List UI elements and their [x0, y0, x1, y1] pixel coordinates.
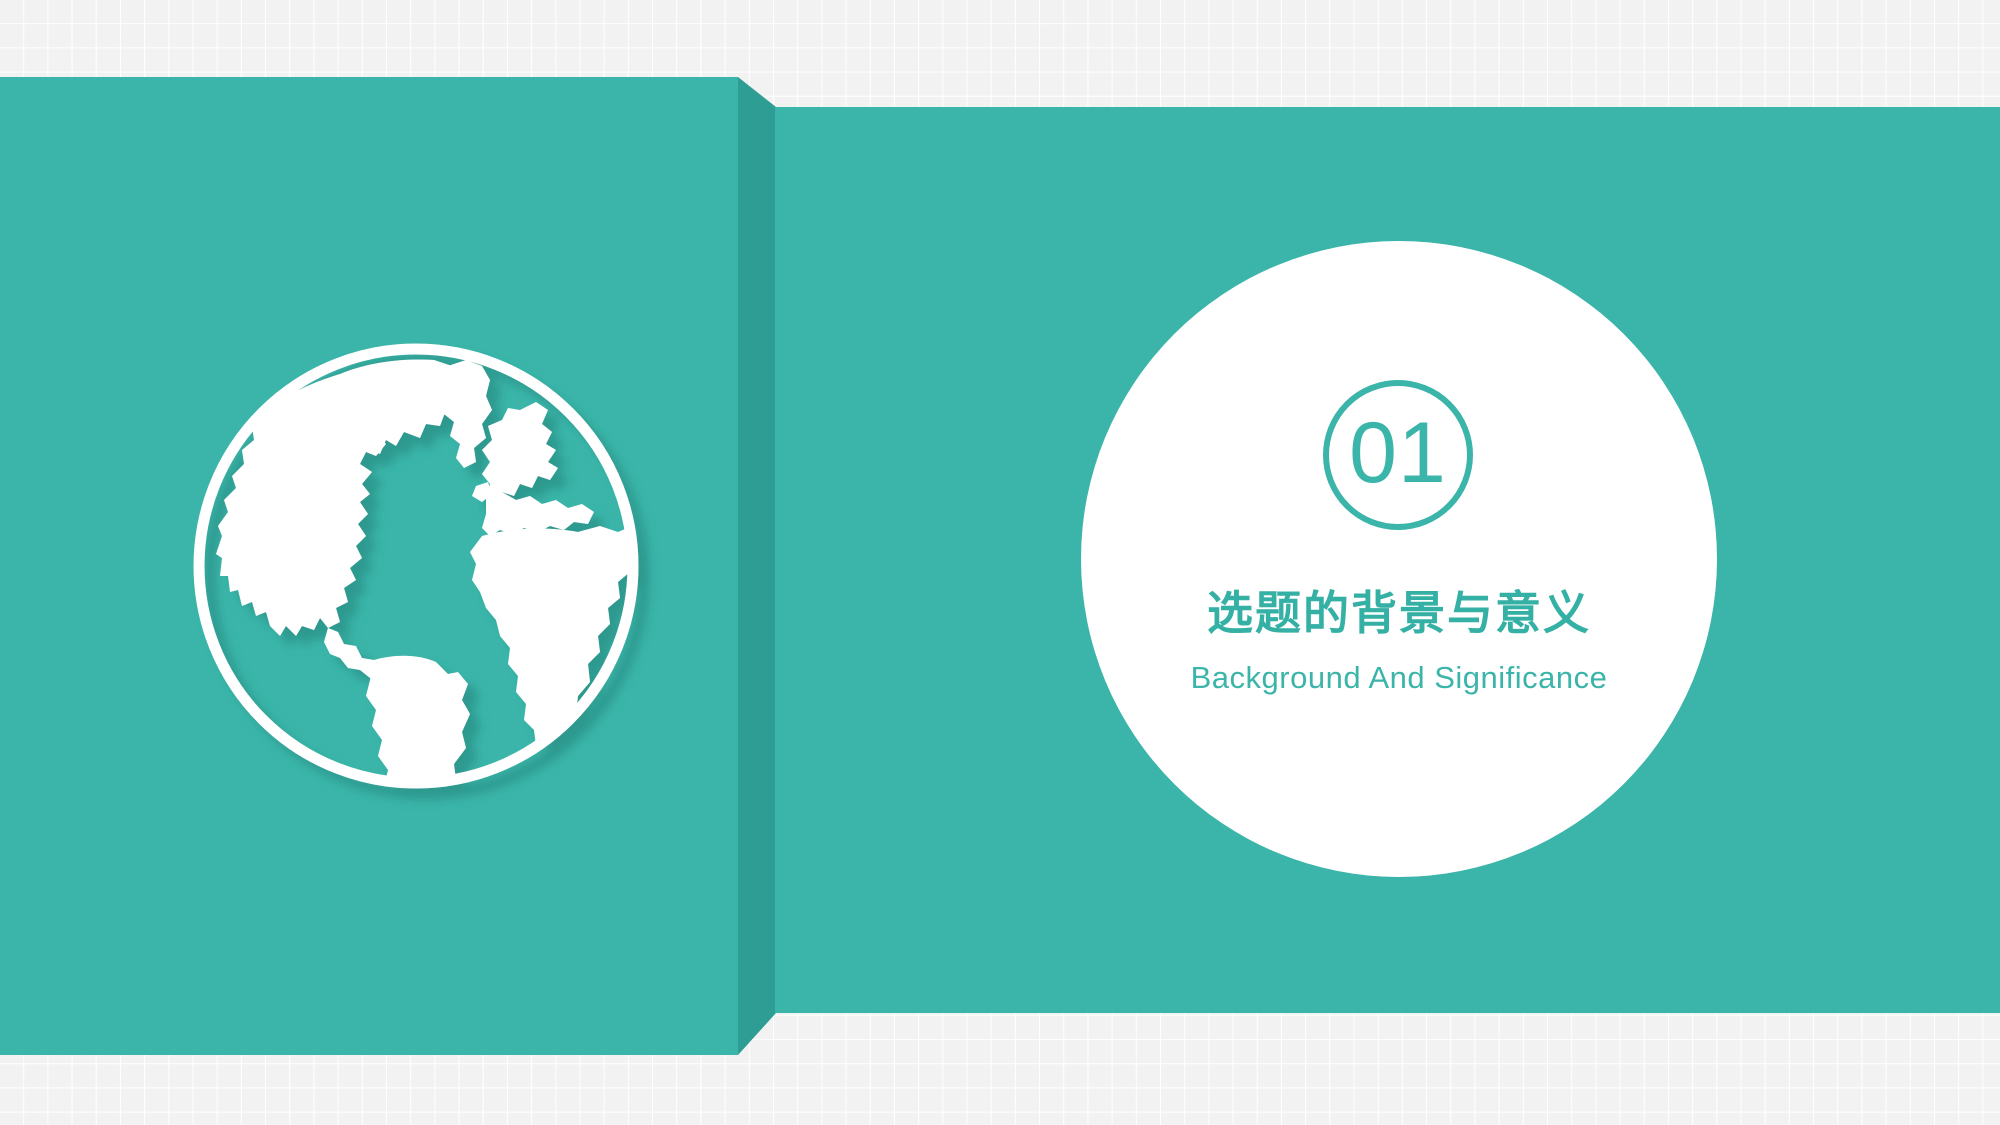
content-circle — [1081, 241, 1717, 877]
panel-fold-bevel — [738, 77, 776, 1055]
section-number-badge: 01 — [1323, 380, 1473, 530]
section-subtitle-en: Background And Significance — [1081, 659, 1717, 696]
slide-canvas: 01 选题的背景与意义 Background And Significance — [0, 0, 2000, 1125]
section-number: 01 — [1349, 410, 1447, 496]
section-heading-group: 选题的背景与意义 Background And Significance — [1081, 585, 1717, 696]
globe-icon — [190, 340, 642, 792]
section-title-cn: 选题的背景与意义 — [1081, 585, 1717, 643]
